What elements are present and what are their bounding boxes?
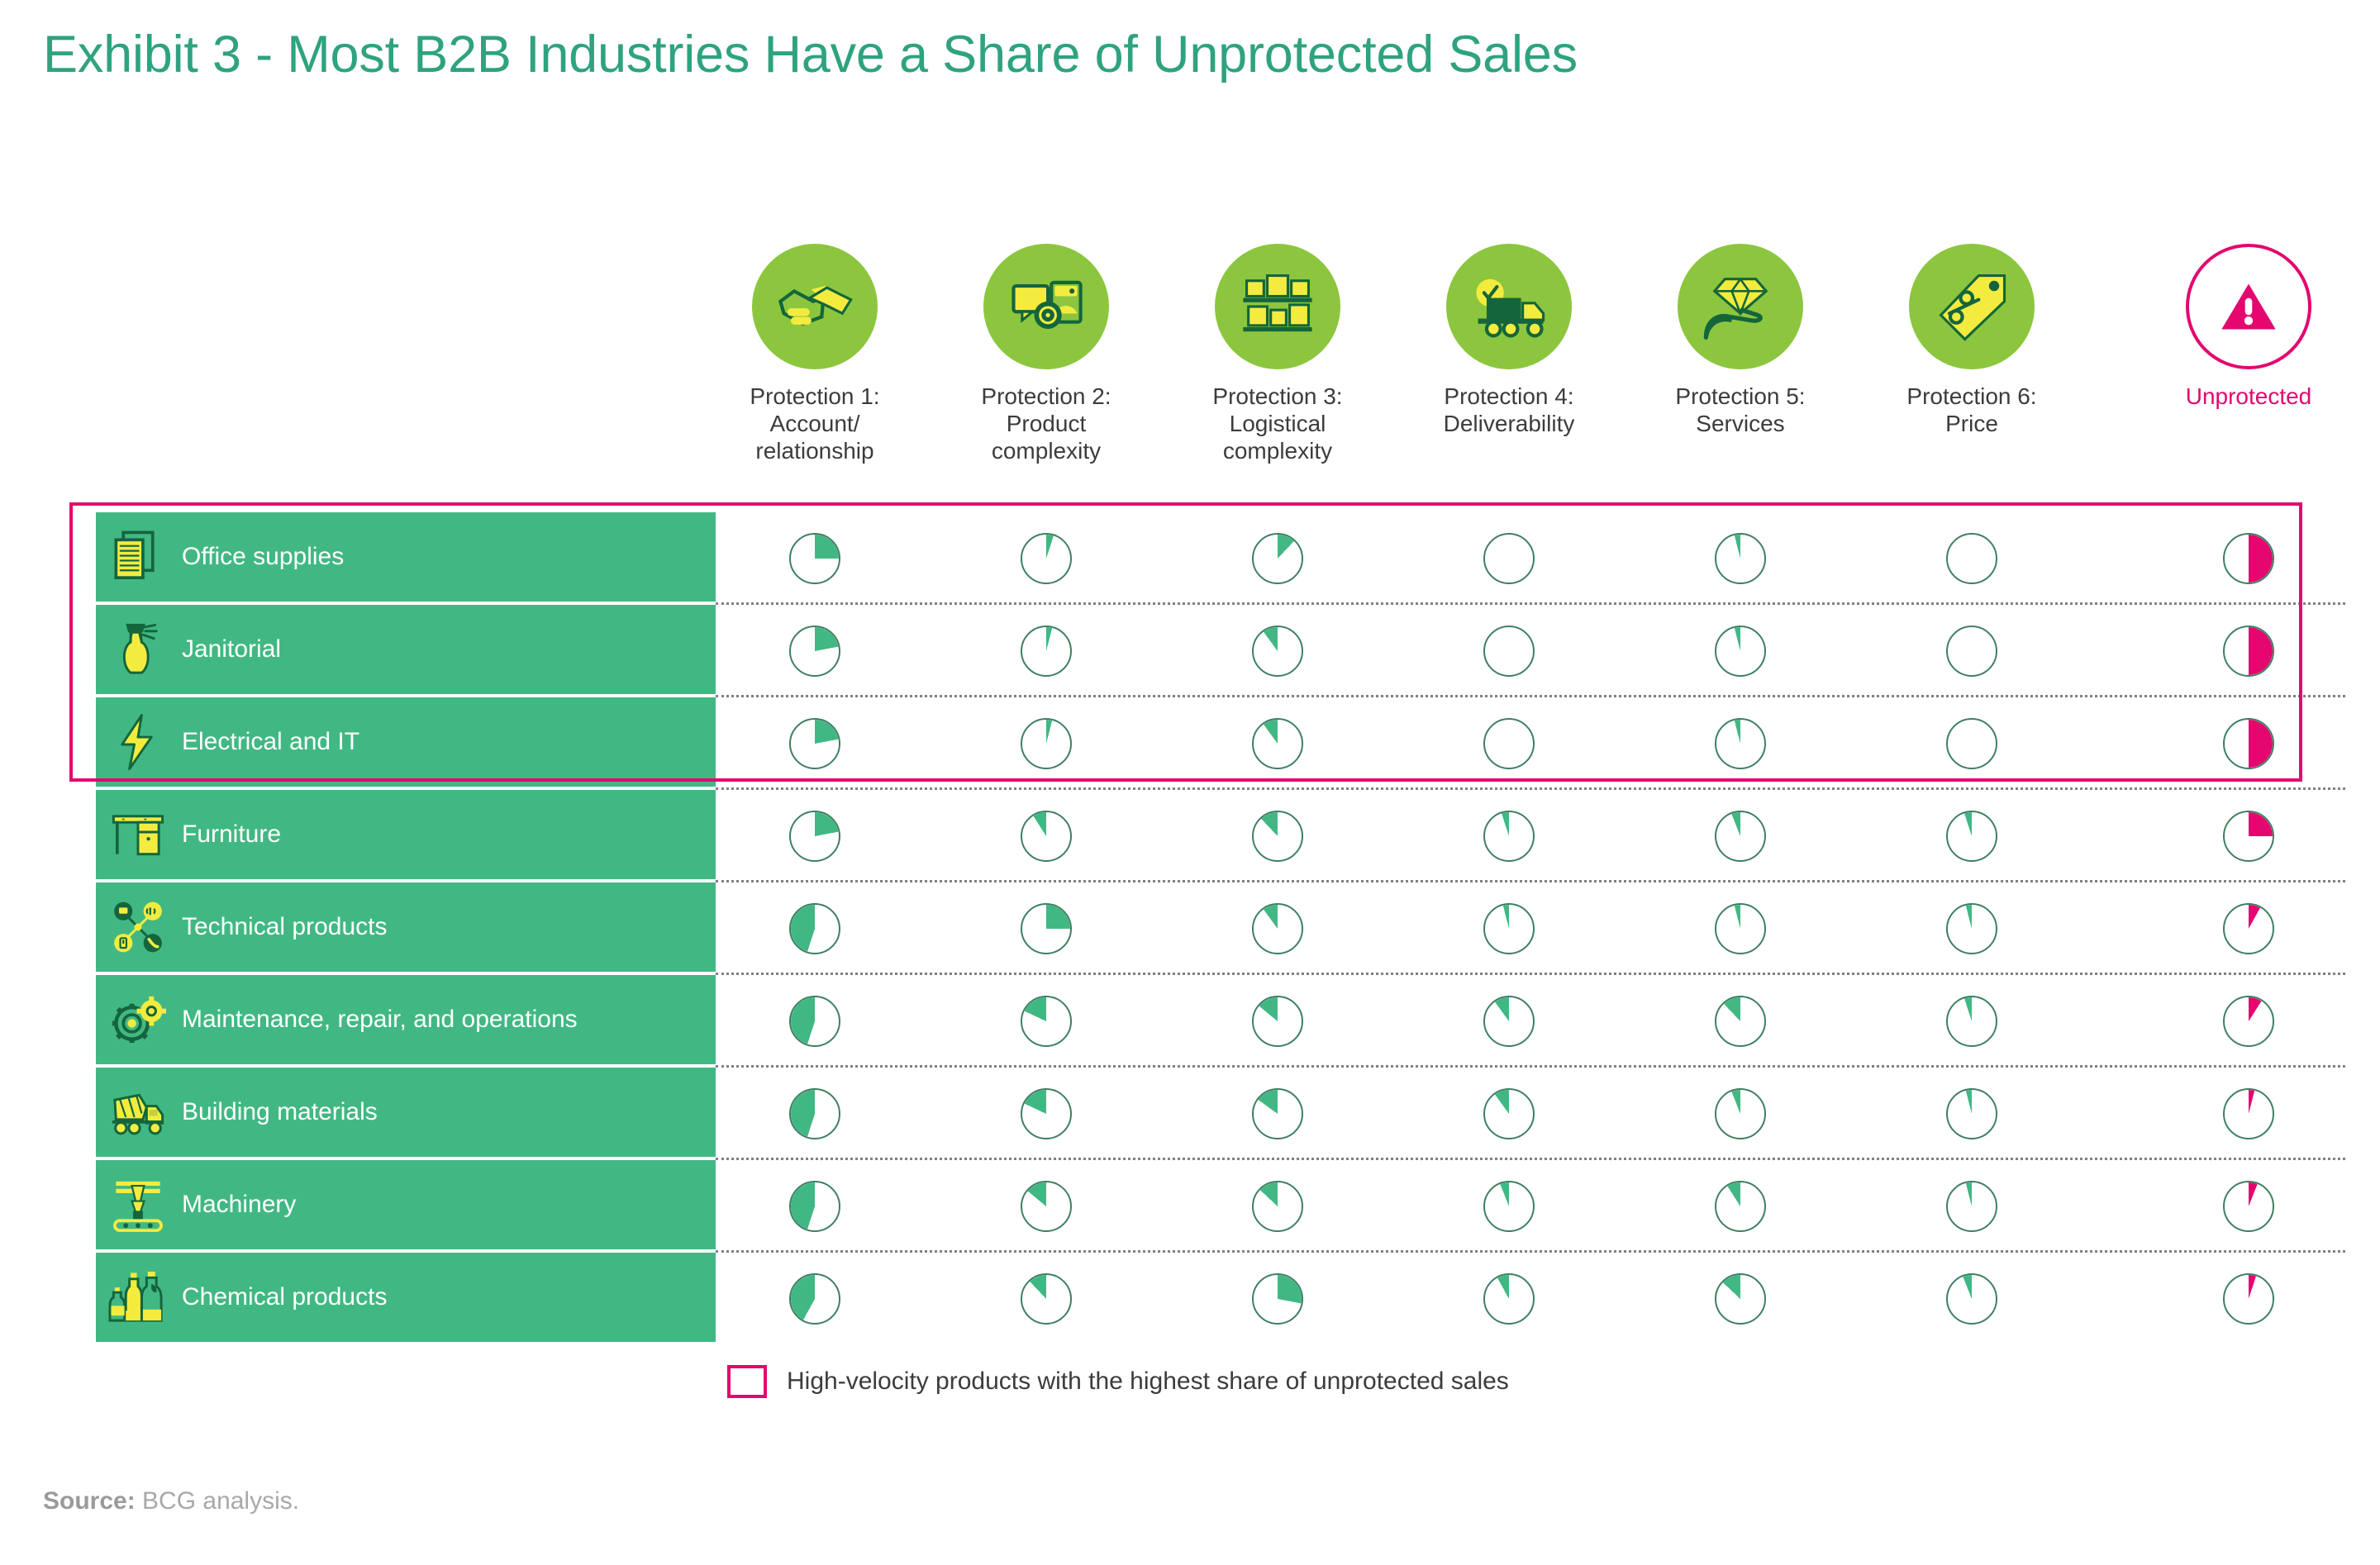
pie-indicator bbox=[1252, 1088, 1303, 1139]
pie-wedge bbox=[1716, 720, 1764, 768]
pie-indicator bbox=[1252, 996, 1303, 1047]
row-label-7: Building materials bbox=[96, 1068, 716, 1157]
pie-cell-p2 bbox=[1021, 811, 1072, 862]
pie-cell-p3 bbox=[1252, 626, 1303, 677]
devices-icon bbox=[983, 244, 1109, 369]
pie-wedge bbox=[1485, 535, 1533, 583]
pie-wedge bbox=[791, 720, 839, 768]
delivery-truck-icon bbox=[1446, 244, 1572, 369]
column-header-p5: Protection 5: Services bbox=[1625, 244, 1856, 437]
pie-cell-p3 bbox=[1252, 811, 1303, 862]
source-text: BCG analysis. bbox=[136, 1487, 299, 1515]
pie-indicator bbox=[789, 533, 840, 584]
pie-wedge bbox=[791, 1275, 839, 1323]
legend: High-velocity products with the highest … bbox=[727, 1365, 1509, 1398]
pie-cell-p6 bbox=[1946, 533, 1997, 584]
pie-cell-p1 bbox=[789, 626, 840, 677]
pie-cell-un bbox=[2223, 1181, 2274, 1232]
pie-cell-p2 bbox=[1021, 1181, 1072, 1232]
pie-wedge bbox=[1948, 1182, 1996, 1230]
hand-diamond-icon bbox=[1678, 244, 1803, 369]
page-title: Exhibit 3 - Most B2B Industries Have a S… bbox=[43, 26, 1578, 83]
matrix-row bbox=[716, 975, 2335, 1068]
pie-indicator bbox=[1021, 1088, 1072, 1139]
pie-indicator bbox=[1021, 1273, 1072, 1325]
pie-indicator bbox=[1021, 533, 1072, 584]
pie-wedge bbox=[2225, 997, 2273, 1045]
row-label-4: Furniture bbox=[96, 790, 716, 879]
pie-cell-p1 bbox=[789, 1181, 840, 1232]
cement-mixer-icon bbox=[107, 1082, 169, 1143]
pie-indicator bbox=[1715, 1181, 1766, 1232]
pie-cell-un bbox=[2223, 903, 2274, 954]
pie-indicator bbox=[1483, 1273, 1535, 1325]
pie-wedge bbox=[1485, 720, 1533, 768]
pie-wedge bbox=[1022, 1275, 1070, 1323]
pie-wedge bbox=[2225, 535, 2273, 583]
pie-cell-p2 bbox=[1021, 626, 1072, 677]
pie-indicator bbox=[2223, 1181, 2274, 1232]
source-prefix: Source: bbox=[43, 1487, 136, 1515]
pie-cell-p4 bbox=[1483, 533, 1535, 584]
pie-wedge bbox=[1254, 1182, 1302, 1230]
pie-cell-p4 bbox=[1483, 903, 1535, 954]
pie-indicator bbox=[1252, 533, 1303, 584]
desk-icon bbox=[107, 804, 169, 865]
pie-indicator bbox=[789, 903, 840, 954]
pie-wedge bbox=[2225, 812, 2273, 860]
pie-indicator bbox=[1715, 1088, 1766, 1139]
pie-wedge bbox=[1254, 1275, 1302, 1323]
pie-indicator bbox=[2223, 1273, 2274, 1325]
pie-indicator bbox=[2223, 811, 2274, 862]
lightning-bolt-icon bbox=[107, 711, 169, 773]
pie-cell-un bbox=[2223, 718, 2274, 769]
matrix-row bbox=[716, 697, 2335, 790]
pie-indicator bbox=[789, 811, 840, 862]
matrix-row bbox=[716, 1068, 2335, 1160]
pie-indicator bbox=[1483, 718, 1535, 769]
pie-cell-p6 bbox=[1946, 626, 1997, 677]
pie-indicator bbox=[789, 1273, 840, 1325]
pie-cell-p1 bbox=[789, 1088, 840, 1139]
pie-wedge bbox=[1485, 1090, 1533, 1138]
pie-cell-p4 bbox=[1483, 1273, 1535, 1325]
pie-indicator bbox=[1483, 1181, 1535, 1232]
gears-icon bbox=[107, 989, 169, 1050]
pie-wedge bbox=[791, 812, 839, 860]
pie-indicator bbox=[1715, 533, 1766, 584]
pie-cell-p3 bbox=[1252, 903, 1303, 954]
pie-indicator bbox=[1252, 1273, 1303, 1325]
column-header-label: Protection 5: Services bbox=[1675, 383, 1805, 437]
row-label-text: Office supplies bbox=[182, 543, 344, 571]
pie-indicator bbox=[789, 1088, 840, 1139]
pie-wedge bbox=[2225, 627, 2273, 675]
pie-wedge bbox=[1022, 1182, 1070, 1230]
handshake-icon bbox=[752, 244, 878, 369]
pie-wedge bbox=[1254, 905, 1302, 953]
row-label-text: Technical products bbox=[182, 913, 387, 941]
pie-cell-p5 bbox=[1715, 996, 1766, 1047]
pie-cell-p5 bbox=[1715, 533, 1766, 584]
pie-indicator bbox=[1946, 1181, 1997, 1232]
pie-wedge bbox=[791, 905, 839, 953]
pie-indicator bbox=[1715, 811, 1766, 862]
matrix-row bbox=[716, 1253, 2335, 1345]
pie-wedge bbox=[791, 1090, 839, 1138]
pie-wedge bbox=[1948, 627, 1996, 675]
exhibit-chart: Exhibit 3 - Most B2B Industries Have a S… bbox=[0, 0, 2380, 1565]
row-label-text: Maintenance, repair, and operations bbox=[182, 1006, 578, 1034]
pie-indicator bbox=[1021, 1181, 1072, 1232]
pie-cell-p4 bbox=[1483, 718, 1535, 769]
pie-cell-p3 bbox=[1252, 1273, 1303, 1325]
pie-cell-p2 bbox=[1021, 533, 1072, 584]
pie-indicator bbox=[1715, 718, 1766, 769]
row-label-text: Electrical and IT bbox=[182, 728, 359, 756]
column-header-p2: Protection 2: Product complexity bbox=[931, 244, 1162, 464]
pie-wedge bbox=[791, 1182, 839, 1230]
pie-cell-p4 bbox=[1483, 626, 1535, 677]
pie-wedge bbox=[1022, 535, 1070, 583]
pie-wedge bbox=[1716, 1090, 1764, 1138]
pie-cell-p3 bbox=[1252, 1181, 1303, 1232]
pie-cell-p4 bbox=[1483, 996, 1535, 1047]
row-label-3: Electrical and IT bbox=[96, 697, 716, 787]
pie-indicator bbox=[789, 718, 840, 769]
pie-wedge bbox=[1948, 1275, 1996, 1323]
pie-cell-p1 bbox=[789, 996, 840, 1047]
pie-wedge bbox=[1022, 720, 1070, 768]
pie-cell-p6 bbox=[1946, 811, 1997, 862]
pie-indicator bbox=[1483, 626, 1535, 677]
pie-wedge bbox=[791, 627, 839, 675]
pie-cell-un bbox=[2223, 626, 2274, 677]
price-tag-icon bbox=[1909, 244, 2035, 369]
pie-wedge bbox=[1716, 905, 1764, 953]
pie-wedge bbox=[1716, 997, 1764, 1045]
pie-cell-p4 bbox=[1483, 1181, 1535, 1232]
pie-indicator bbox=[2223, 718, 2274, 769]
pie-wedge bbox=[1716, 1275, 1764, 1323]
pie-cell-un bbox=[2223, 996, 2274, 1047]
pie-indicator bbox=[1715, 1273, 1766, 1325]
pie-cell-un bbox=[2223, 811, 2274, 862]
row-label-6: Maintenance, repair, and operations bbox=[96, 975, 716, 1064]
pie-wedge bbox=[2225, 720, 2273, 768]
warehouse-icon bbox=[1215, 244, 1340, 369]
pie-wedge bbox=[1254, 720, 1302, 768]
pie-cell-p4 bbox=[1483, 811, 1535, 862]
pie-indicator bbox=[1021, 996, 1072, 1047]
matrix-row bbox=[716, 790, 2335, 882]
pie-wedge bbox=[1716, 1182, 1764, 1230]
pie-cell-p6 bbox=[1946, 1273, 1997, 1325]
pie-indicator bbox=[1483, 1088, 1535, 1139]
pie-wedge bbox=[1485, 812, 1533, 860]
matrix-row bbox=[716, 512, 2335, 605]
pie-indicator bbox=[1252, 903, 1303, 954]
pie-cell-p5 bbox=[1715, 903, 1766, 954]
pie-wedge bbox=[2225, 1182, 2273, 1230]
warning-icon bbox=[2186, 244, 2311, 369]
column-header-un: Unprotected bbox=[2133, 244, 2364, 410]
pie-indicator bbox=[1021, 626, 1072, 677]
pie-indicator bbox=[2223, 626, 2274, 677]
pie-indicator bbox=[2223, 996, 2274, 1047]
robot-arm-icon bbox=[107, 1174, 169, 1235]
matrix-row bbox=[716, 882, 2335, 975]
pie-indicator bbox=[1946, 996, 1997, 1047]
pie-indicator bbox=[1715, 626, 1766, 677]
pie-wedge bbox=[1948, 1090, 1996, 1138]
paper-stack-icon bbox=[107, 526, 169, 587]
pie-indicator bbox=[789, 1181, 840, 1232]
pie-cell-p2 bbox=[1021, 996, 1072, 1047]
pie-wedge bbox=[1485, 627, 1533, 675]
column-header-label: Protection 4: Deliverability bbox=[1444, 383, 1575, 437]
column-header-label: Unprotected bbox=[2186, 383, 2312, 410]
pie-wedge bbox=[1254, 535, 1302, 583]
pie-indicator bbox=[1483, 811, 1535, 862]
row-label-text: Janitorial bbox=[182, 635, 281, 664]
pie-cell-p1 bbox=[789, 533, 840, 584]
pie-cell-p3 bbox=[1252, 996, 1303, 1047]
legend-label: High-velocity products with the highest … bbox=[787, 1368, 1509, 1396]
pie-wedge bbox=[1948, 720, 1996, 768]
column-header-label: Protection 2: Product complexity bbox=[981, 383, 1111, 464]
pie-wedge bbox=[1254, 812, 1302, 860]
pie-cell-p1 bbox=[789, 811, 840, 862]
pie-indicator bbox=[789, 996, 840, 1047]
pie-cell-p5 bbox=[1715, 811, 1766, 862]
pie-indicator bbox=[1252, 718, 1303, 769]
pie-wedge bbox=[1254, 1090, 1302, 1138]
pie-cell-p1 bbox=[789, 903, 840, 954]
pie-indicator bbox=[1252, 811, 1303, 862]
pie-indicator bbox=[1252, 1181, 1303, 1232]
column-header-p3: Protection 3: Logistical complexity bbox=[1162, 244, 1393, 464]
spray-bottle-icon bbox=[107, 619, 169, 680]
pie-wedge bbox=[1948, 905, 1996, 953]
pie-cell-p5 bbox=[1715, 626, 1766, 677]
pie-wedge bbox=[1485, 1275, 1533, 1323]
pie-indicator bbox=[1946, 626, 1997, 677]
pie-indicator bbox=[1946, 903, 1997, 954]
pie-cell-p6 bbox=[1946, 1088, 1997, 1139]
pie-indicator bbox=[1483, 533, 1535, 584]
pie-wedge bbox=[2225, 1090, 2273, 1138]
pie-wedge bbox=[1485, 1182, 1533, 1230]
pie-indicator bbox=[1252, 626, 1303, 677]
pie-cell-p2 bbox=[1021, 1273, 1072, 1325]
pie-indicator bbox=[1715, 996, 1766, 1047]
pie-cell-un bbox=[2223, 533, 2274, 584]
pie-cell-p5 bbox=[1715, 1088, 1766, 1139]
pie-indicator bbox=[1483, 996, 1535, 1047]
pie-indicator bbox=[2223, 533, 2274, 584]
column-header-p6: Protection 6: Price bbox=[1856, 244, 2087, 437]
pie-wedge bbox=[1254, 997, 1302, 1045]
pie-cell-p5 bbox=[1715, 1273, 1766, 1325]
pie-indicator bbox=[1946, 1088, 1997, 1139]
pie-wedge bbox=[1485, 905, 1533, 953]
pie-matrix bbox=[716, 512, 2335, 1345]
pie-indicator bbox=[1021, 718, 1072, 769]
row-label-5: Technical products bbox=[96, 882, 716, 972]
network-nodes-icon bbox=[107, 897, 169, 958]
pie-cell-p6 bbox=[1946, 718, 1997, 769]
pie-cell-p6 bbox=[1946, 1181, 1997, 1232]
pie-indicator bbox=[1483, 903, 1535, 954]
column-header-row: Protection 1: Account/ relationshipProte… bbox=[716, 244, 2329, 492]
pie-indicator bbox=[1715, 903, 1766, 954]
pie-cell-p6 bbox=[1946, 996, 1997, 1047]
column-header-p1: Protection 1: Account/ relationship bbox=[699, 244, 931, 464]
pie-cell-p1 bbox=[789, 718, 840, 769]
pie-cell-p5 bbox=[1715, 1181, 1766, 1232]
pie-wedge bbox=[1948, 997, 1996, 1045]
pie-cell-p2 bbox=[1021, 718, 1072, 769]
pie-wedge bbox=[1022, 1090, 1070, 1138]
pie-wedge bbox=[791, 535, 839, 583]
pie-cell-p5 bbox=[1715, 718, 1766, 769]
column-header-p4: Protection 4: Deliverability bbox=[1393, 244, 1625, 437]
pie-wedge bbox=[1716, 812, 1764, 860]
pie-indicator bbox=[1946, 533, 1997, 584]
pie-indicator bbox=[2223, 1088, 2274, 1139]
pie-wedge bbox=[1022, 997, 1070, 1045]
pie-wedge bbox=[1022, 812, 1070, 860]
pie-wedge bbox=[2225, 905, 2273, 953]
row-label-text: Machinery bbox=[182, 1191, 296, 1219]
pie-wedge bbox=[1485, 997, 1533, 1045]
column-header-label: Protection 3: Logistical complexity bbox=[1212, 383, 1342, 464]
row-label-column: Office suppliesJanitorialElectrical and … bbox=[96, 512, 716, 1345]
source-note: Source: BCG analysis. bbox=[43, 1487, 299, 1515]
row-label-9: Chemical products bbox=[96, 1253, 716, 1342]
pie-cell-p2 bbox=[1021, 903, 1072, 954]
pie-cell-un bbox=[2223, 1088, 2274, 1139]
column-header-label: Protection 6: Price bbox=[1906, 383, 2036, 437]
pie-wedge bbox=[1022, 627, 1070, 675]
pie-indicator bbox=[1021, 903, 1072, 954]
row-label-8: Machinery bbox=[96, 1160, 716, 1249]
pie-wedge bbox=[1022, 905, 1070, 953]
pie-cell-p2 bbox=[1021, 1088, 1072, 1139]
row-label-text: Building materials bbox=[182, 1098, 378, 1126]
pie-wedge bbox=[1254, 627, 1302, 675]
pie-cell-p1 bbox=[789, 1273, 840, 1325]
row-label-2: Janitorial bbox=[96, 605, 716, 694]
legend-swatch-icon bbox=[727, 1365, 767, 1398]
bottles-icon bbox=[107, 1267, 169, 1328]
pie-indicator bbox=[1021, 811, 1072, 862]
pie-wedge bbox=[1948, 535, 1996, 583]
pie-cell-p3 bbox=[1252, 1088, 1303, 1139]
pie-wedge bbox=[791, 997, 839, 1045]
pie-cell-p3 bbox=[1252, 533, 1303, 584]
pie-indicator bbox=[1946, 811, 1997, 862]
pie-indicator bbox=[1946, 1273, 1997, 1325]
pie-wedge bbox=[2225, 1275, 2273, 1323]
row-label-text: Chemical products bbox=[182, 1283, 387, 1311]
pie-cell-p3 bbox=[1252, 718, 1303, 769]
pie-wedge bbox=[1716, 535, 1764, 583]
pie-indicator bbox=[1946, 718, 1997, 769]
pie-cell-p4 bbox=[1483, 1088, 1535, 1139]
matrix-row bbox=[716, 1160, 2335, 1253]
pie-cell-p6 bbox=[1946, 903, 1997, 954]
column-header-label: Protection 1: Account/ relationship bbox=[750, 383, 879, 464]
pie-wedge bbox=[1948, 812, 1996, 860]
pie-wedge bbox=[1716, 627, 1764, 675]
pie-indicator bbox=[789, 626, 840, 677]
row-label-text: Furniture bbox=[182, 821, 281, 849]
pie-indicator bbox=[2223, 903, 2274, 954]
matrix-row bbox=[716, 605, 2335, 697]
row-label-1: Office supplies bbox=[96, 512, 716, 602]
pie-cell-un bbox=[2223, 1273, 2274, 1325]
